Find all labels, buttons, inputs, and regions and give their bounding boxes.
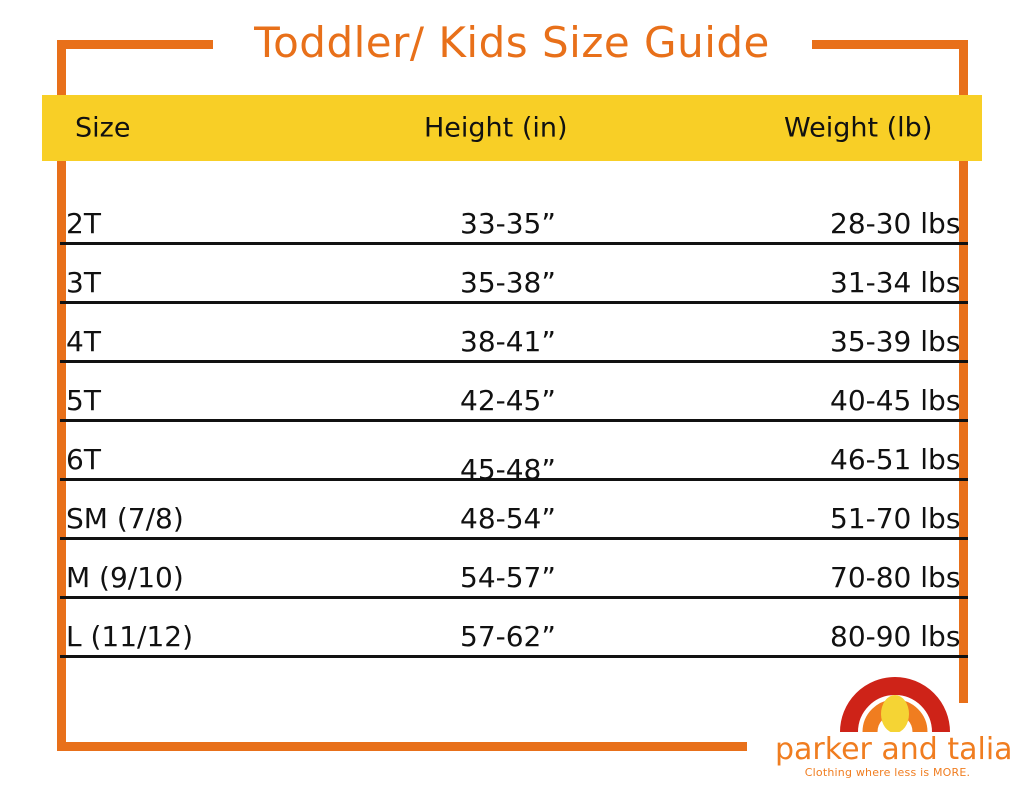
cell-height: 48-54” (460, 502, 556, 535)
size-table-body: 2T33-35”28-30 lbs3T35-38”31-34 lbs4T38-4… (60, 186, 968, 658)
cell-weight: 31-34 lbs (830, 266, 960, 299)
table-row: 5T42-45”40-45 lbs (60, 363, 968, 422)
cell-size: 3T (66, 266, 101, 299)
cell-weight: 51-70 lbs (830, 502, 960, 535)
table-header-band: Size Height (in) Weight (lb) (42, 95, 982, 161)
column-header-weight: Weight (lb) (784, 113, 932, 144)
cell-height: 35-38” (460, 266, 556, 299)
cell-height: 57-62” (460, 620, 556, 653)
cell-weight: 70-80 lbs (830, 561, 960, 594)
table-row: SM (7/8)48-54”51-70 lbs (60, 481, 968, 540)
cell-height: 42-45” (460, 384, 556, 417)
table-row: 2T33-35”28-30 lbs (60, 186, 968, 245)
cell-size: 5T (66, 384, 101, 417)
cell-size: 4T (66, 325, 101, 358)
cell-height: 38-41” (460, 325, 556, 358)
cell-size: 2T (66, 207, 101, 240)
cell-size: 6T (66, 443, 101, 476)
logo-tagline: Clothing where less is MORE. (775, 766, 1000, 779)
cell-weight: 35-39 lbs (830, 325, 960, 358)
page-title: Toddler/ Kids Size Guide (0, 18, 1024, 67)
cell-height: 54-57” (460, 561, 556, 594)
cell-weight: 40-45 lbs (830, 384, 960, 417)
table-row: 6T45-48”46-51 lbs (60, 422, 968, 481)
brand-logo: parker and talia Clothing where less is … (775, 648, 1000, 784)
frame-bottom-bar (57, 742, 747, 751)
cell-size: M (9/10) (66, 561, 184, 594)
logo-wordmark: parker and talia (775, 732, 1000, 767)
table-row: 3T35-38”31-34 lbs (60, 245, 968, 304)
rainbow-arch-icon (839, 648, 951, 732)
cell-height: 33-35” (460, 207, 556, 240)
cell-weight: 46-51 lbs (830, 443, 960, 476)
cell-size: SM (7/8) (66, 502, 184, 535)
table-row: 4T38-41”35-39 lbs (60, 304, 968, 363)
column-header-height: Height (in) (424, 113, 568, 144)
cell-weight: 28-30 lbs (830, 207, 960, 240)
column-header-size: Size (75, 113, 130, 144)
table-row: M (9/10)54-57”70-80 lbs (60, 540, 968, 599)
cell-size: L (11/12) (66, 620, 193, 653)
